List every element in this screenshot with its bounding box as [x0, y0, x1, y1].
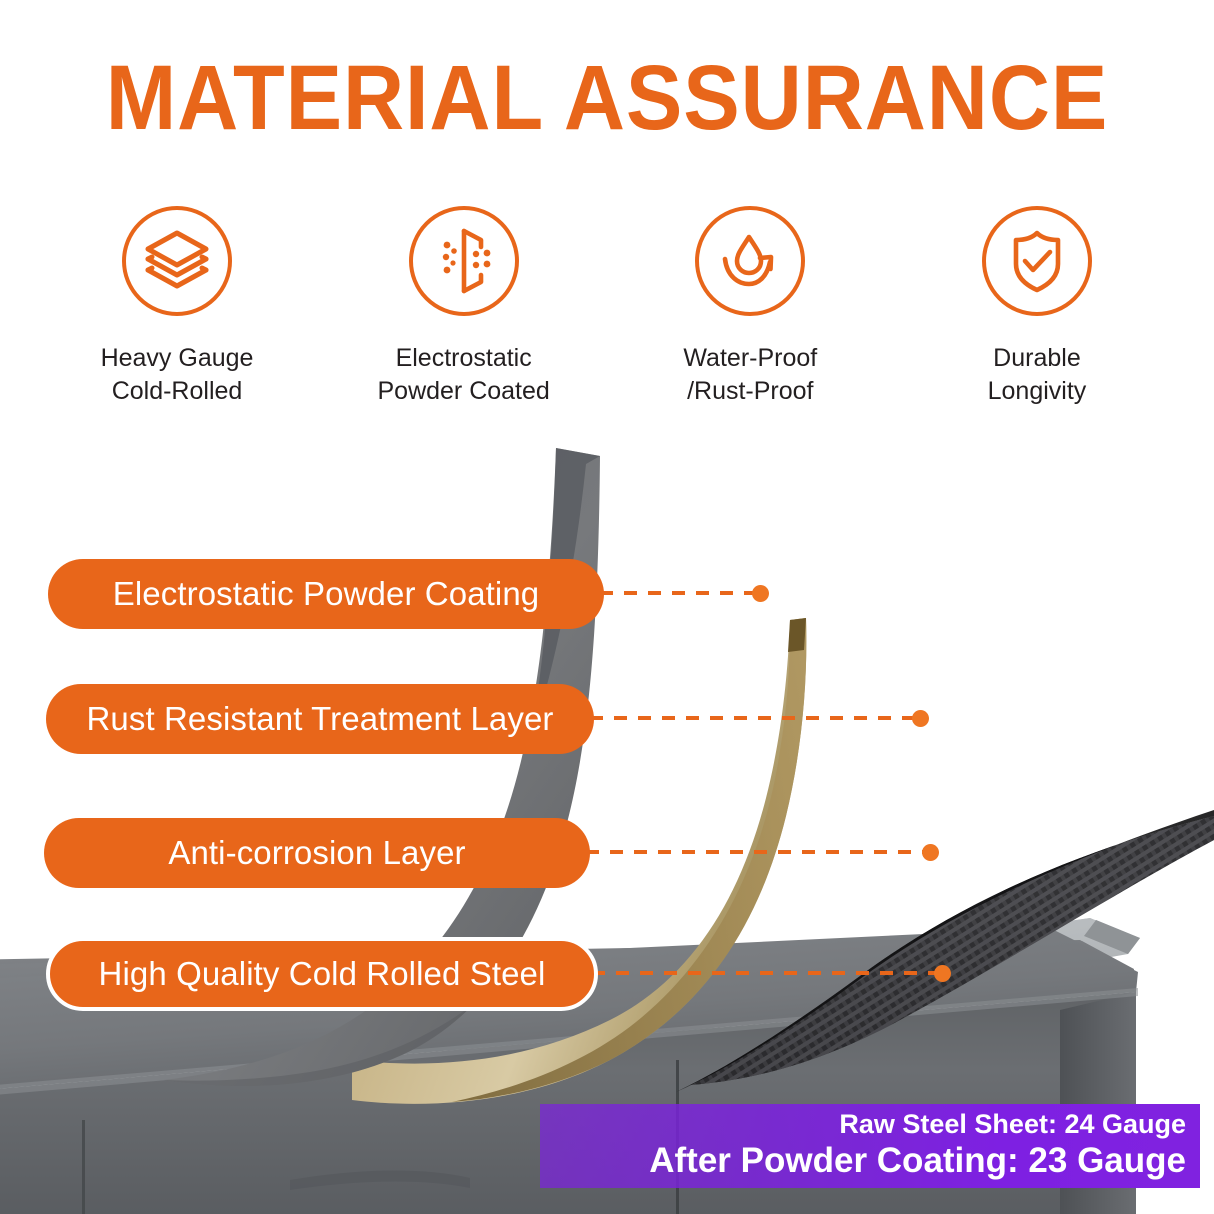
feature-label: Durable Longivity: [988, 342, 1087, 407]
feature-icon-circle: [409, 206, 519, 316]
powder-spray-icon: [427, 224, 501, 298]
callout-high-quality-cold-rolled-steel[interactable]: High Quality Cold Rolled Steel: [46, 937, 598, 1011]
callout-electrostatic-powder-coating[interactable]: Electrostatic Powder Coating: [48, 559, 604, 629]
connector-line-1: [600, 591, 756, 595]
callout-anti-corrosion-layer[interactable]: Anti-corrosion Layer: [44, 818, 590, 888]
feature-icon-circle: [695, 206, 805, 316]
gauge-banner-text: Raw Steel Sheet: 24 Gauge After Powder C…: [649, 1109, 1186, 1181]
callout-label: High Quality Cold Rolled Steel: [99, 955, 546, 993]
feature-heavy-gauge: Heavy Gauge Cold-Rolled: [52, 206, 302, 407]
callout-label: Rust Resistant Treatment Layer: [86, 700, 553, 738]
shield-check-icon: [1000, 224, 1074, 298]
connector-line-2: [590, 716, 916, 720]
raw-steel-gauge-text: Raw Steel Sheet: 24 Gauge: [649, 1109, 1186, 1140]
connector-line-4: [592, 971, 940, 975]
feature-durable: Durable Longivity: [912, 206, 1162, 407]
callout-rust-resistant-treatment-layer[interactable]: Rust Resistant Treatment Layer: [46, 684, 594, 754]
feature-waterproof: Water-Proof /Rust-Proof: [625, 206, 875, 407]
connector-dot-4: [934, 965, 951, 982]
page-title: MATERIAL ASSURANCE: [49, 52, 1166, 144]
feature-label: Heavy Gauge Cold-Rolled: [101, 342, 254, 407]
feature-icon-circle: [122, 206, 232, 316]
feature-electrostatic: Electrostatic Powder Coated: [339, 206, 589, 407]
layers-stack-icon: [140, 224, 214, 298]
coated-gauge-text: After Powder Coating: 23 Gauge: [649, 1140, 1186, 1181]
feature-icon-circle: [982, 206, 1092, 316]
steel-layers-illustration: [0, 420, 1214, 1214]
feature-row: Heavy Gauge Cold-Rolled: [0, 206, 1214, 407]
connector-dot-2: [912, 710, 929, 727]
gauge-banner: Raw Steel Sheet: 24 Gauge After Powder C…: [540, 1104, 1200, 1188]
connector-dot-3: [922, 844, 939, 861]
infographic-page: MATERIAL ASSURANCE Heavy Gauge Cold-: [0, 0, 1214, 1214]
feature-label: Water-Proof /Rust-Proof: [683, 342, 817, 407]
product-photo: [0, 420, 1214, 1214]
water-droplet-arrow-icon: [713, 224, 787, 298]
callout-label: Electrostatic Powder Coating: [113, 575, 540, 613]
feature-label: Electrostatic Powder Coated: [377, 342, 549, 407]
connector-dot-1: [752, 585, 769, 602]
callout-label: Anti-corrosion Layer: [168, 834, 465, 872]
connector-line-3: [586, 850, 926, 854]
